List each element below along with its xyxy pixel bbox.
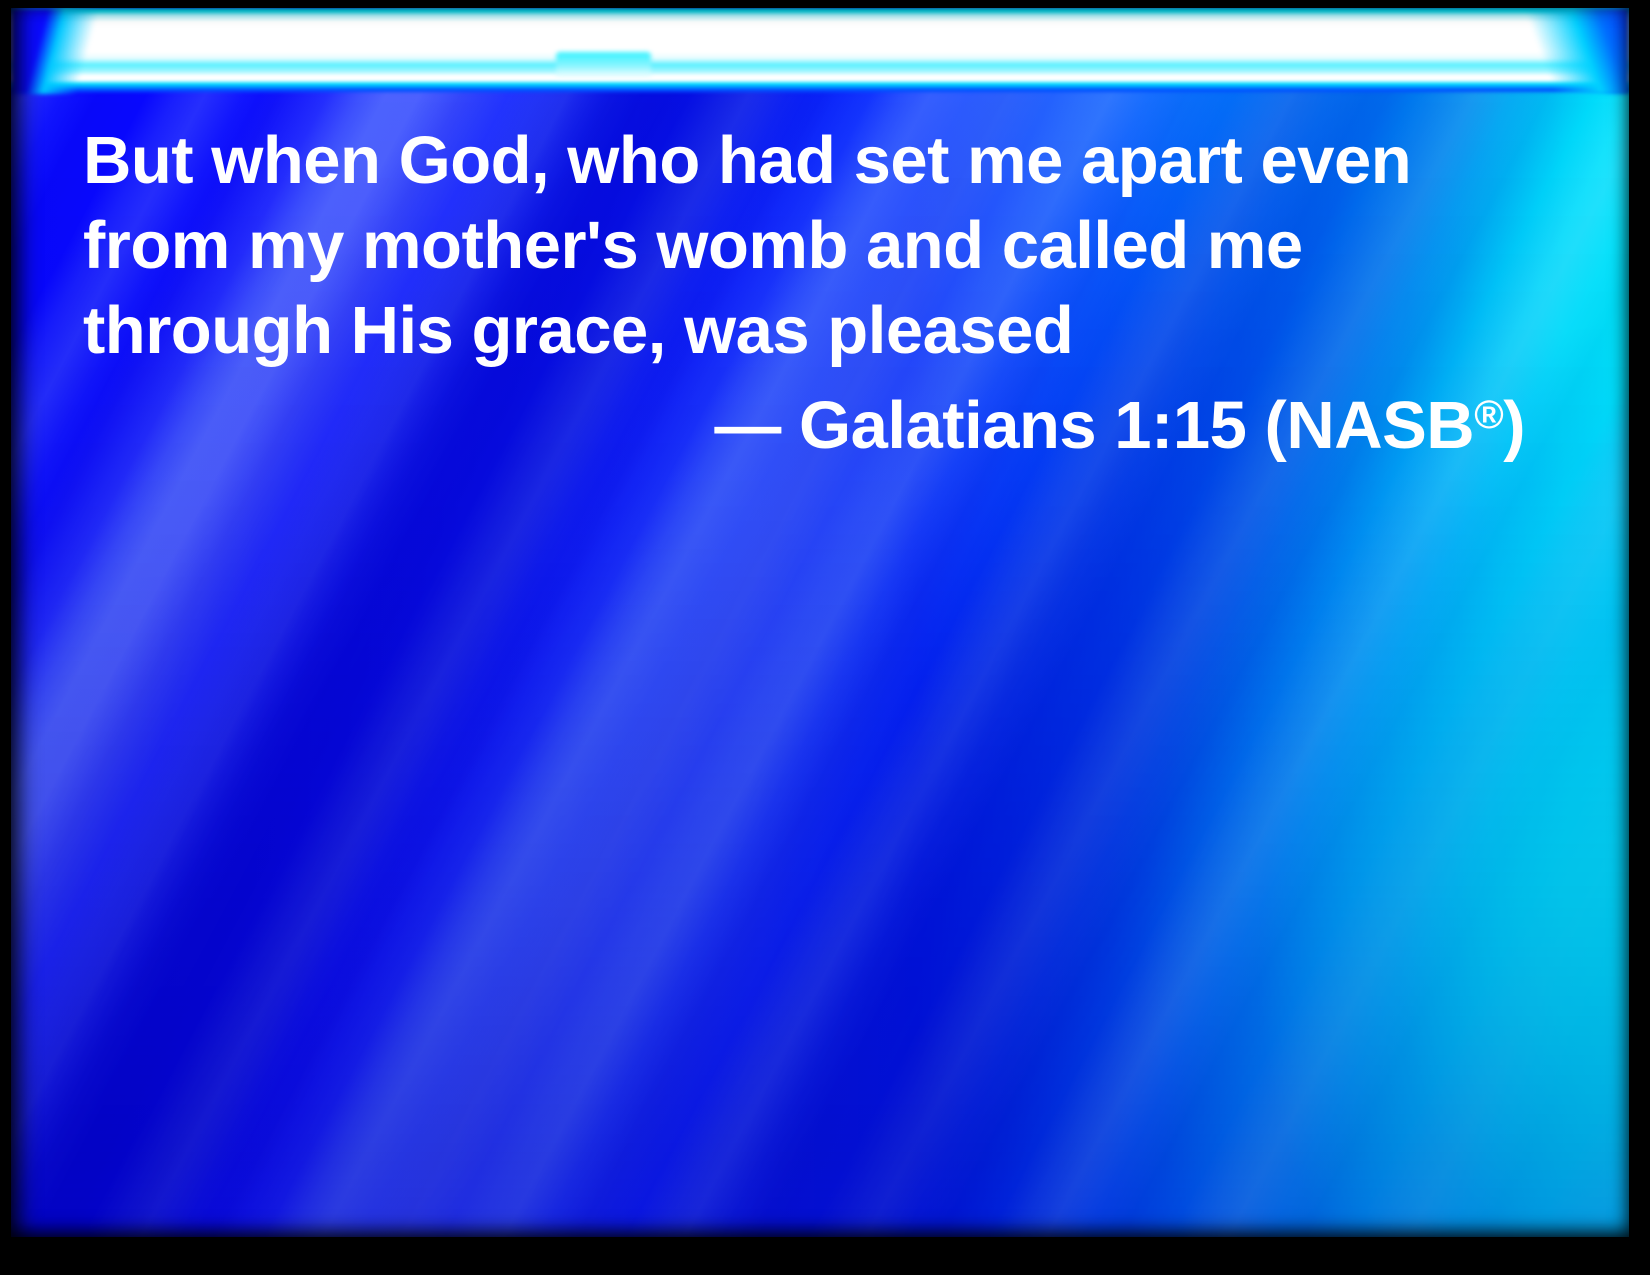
attribution-em-dash: — — [714, 388, 781, 463]
top-highlight-band — [11, 8, 1629, 94]
verse-line-3: through His grace, was pleased — [83, 288, 1533, 373]
top-band-right-taper — [1479, 8, 1629, 94]
attribution-open-paren: ( — [1265, 388, 1287, 463]
attribution-book: Galatians — [799, 388, 1096, 463]
top-band-left-taper — [11, 8, 131, 94]
attribution-chapter-verse: 1:15 — [1114, 388, 1246, 463]
attribution-translation: NASB — [1286, 388, 1474, 463]
verse-line-2: from my mother's womb and called me — [83, 203, 1533, 288]
verse-slide: But when God, who had set me apart even … — [0, 0, 1650, 1275]
attribution-close-paren: ) — [1503, 388, 1525, 463]
registered-trademark-icon: ® — [1474, 393, 1503, 437]
top-band-cyan-notch — [556, 52, 651, 78]
verse-line-1: But when God, who had set me apart even — [83, 118, 1533, 203]
verse-text-block: But when God, who had set me apart even … — [83, 118, 1533, 468]
verse-attribution: — Galatians 1:15 (NASB®) — [83, 373, 1533, 468]
